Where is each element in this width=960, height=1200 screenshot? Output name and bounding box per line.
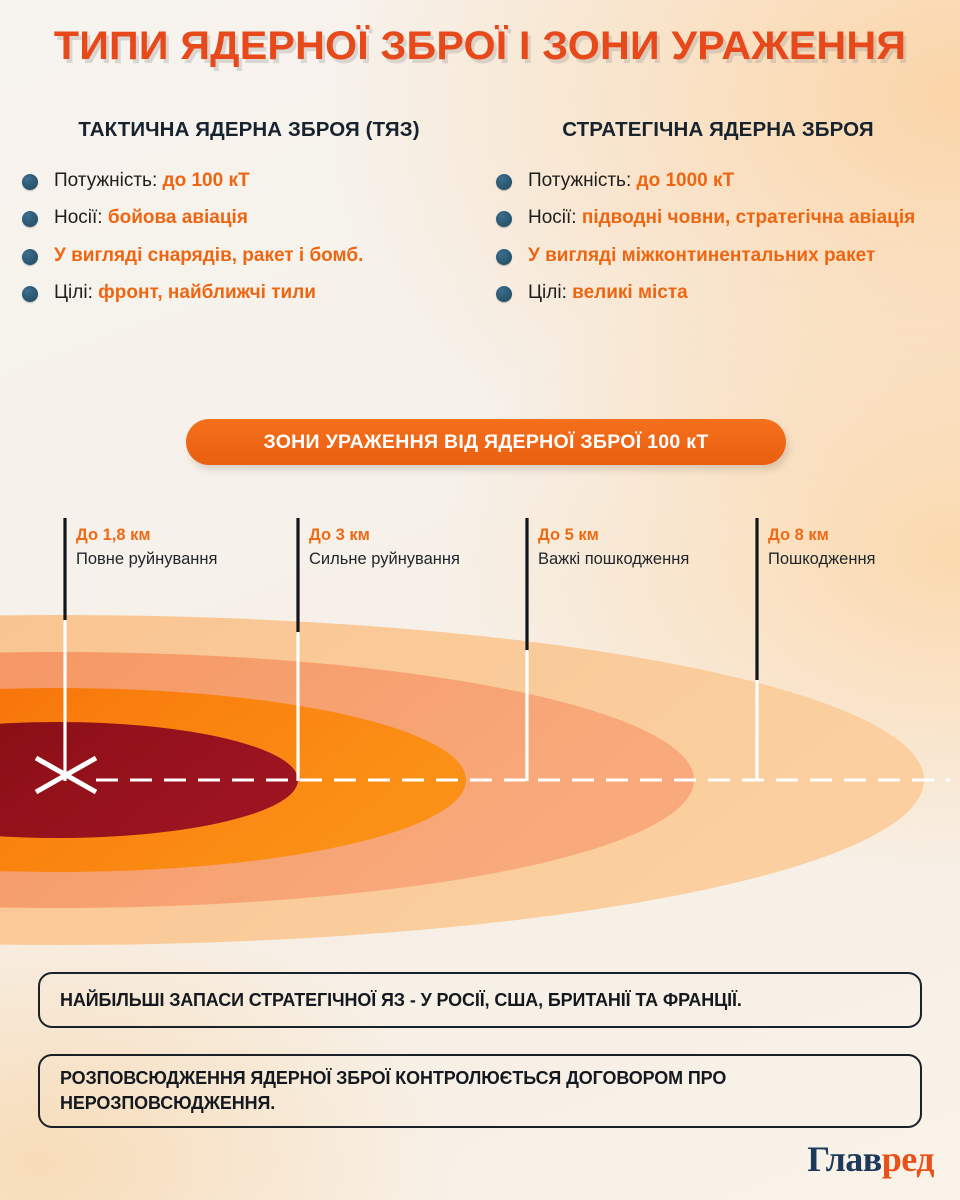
bullet-dot-icon bbox=[496, 211, 512, 227]
zone-effect-3: Важкі пошкодження bbox=[538, 550, 689, 568]
bullet-label: Носії: bbox=[528, 207, 582, 228]
zone-distance-1: До 1,8 км bbox=[76, 526, 151, 544]
bullet-value: У вигляді міжконтинентальних ракет bbox=[528, 243, 875, 268]
zone-effect-2: Сильне руйнування bbox=[309, 550, 460, 568]
zone-effect-4: Пошкодження bbox=[768, 550, 876, 568]
bullet-value: бойова авіація bbox=[108, 207, 248, 228]
zone-effect-1: Повне руйнування bbox=[76, 550, 217, 568]
glavred-logo[interactable]: Главред bbox=[807, 1138, 934, 1180]
bullet-dot-icon bbox=[22, 211, 38, 227]
list-item: У вигляді снарядів, ракет і бомб. bbox=[14, 243, 484, 268]
bullet-text: Цілі: великі міста bbox=[528, 280, 688, 305]
logo-part-primary: Глав bbox=[807, 1139, 881, 1179]
bullet-label: Носії: bbox=[54, 207, 108, 228]
bullet-text: Потужність: до 100 кТ bbox=[54, 168, 250, 193]
blast-zone-diagram: До 1,8 км Повне руйнування До 3 км Сильн… bbox=[0, 500, 960, 970]
list-item: Цілі: фронт, найближчі тили bbox=[14, 280, 484, 305]
infographic-poster: ТИПИ ЯДЕРНОЇ ЗБРОЇ І ЗОНИ УРАЖЕННЯ ТАКТИ… bbox=[0, 0, 960, 1200]
blast-zones-banner: ЗОНИ УРАЖЕННЯ ВІД ЯДЕРНОЇ ЗБРОЇ 100 кТ bbox=[186, 419, 786, 465]
column-heading-strategic: СТРАТЕГІЧНА ЯДЕРНА ЗБРОЯ bbox=[488, 118, 948, 142]
bullet-value: до 100 кТ bbox=[163, 170, 250, 191]
bullet-text: Потужність: до 1000 кТ bbox=[528, 168, 734, 193]
list-item: Носії: бойова авіація bbox=[14, 205, 484, 230]
note-box-treaty: РОЗПОВСЮДЖЕННЯ ЯДЕРНОЇ ЗБРОЇ КОНТРОЛЮЄТЬ… bbox=[38, 1054, 922, 1128]
bullet-dot-icon bbox=[496, 249, 512, 265]
bullet-list-strategic: Потужність: до 1000 кТ Носії: підводні ч… bbox=[488, 168, 948, 306]
note-box-stockpiles: НАЙБІЛЬШІ ЗАПАСИ СТРАТЕГІЧНОЇ ЯЗ - У РОС… bbox=[38, 972, 922, 1028]
bullet-label: Цілі: bbox=[54, 282, 98, 303]
bullet-dot-icon bbox=[496, 286, 512, 302]
zone-distance-4: До 8 км bbox=[768, 526, 829, 544]
logo-part-accent: ред bbox=[882, 1139, 934, 1179]
column-heading-tactical: ТАКТИЧНА ЯДЕРНА ЗБРОЯ (ТЯЗ) bbox=[14, 118, 484, 142]
bullet-value: фронт, найближчі тили bbox=[98, 282, 316, 303]
bullet-label: Потужність: bbox=[54, 170, 163, 191]
column-strategic: СТРАТЕГІЧНА ЯДЕРНА ЗБРОЯ Потужність: до … bbox=[488, 118, 948, 318]
bullet-value: підводні човни, стратегічна авіація bbox=[582, 207, 915, 228]
list-item: Цілі: великі міста bbox=[488, 280, 948, 305]
bullet-dot-icon bbox=[22, 174, 38, 190]
page-title: ТИПИ ЯДЕРНОЇ ЗБРОЇ І ЗОНИ УРАЖЕННЯ bbox=[0, 24, 960, 69]
bullet-text: Носії: бойова авіація bbox=[54, 205, 248, 230]
bullet-list-tactical: Потужність: до 100 кТ Носії: бойова авіа… bbox=[14, 168, 484, 306]
list-item: Носії: підводні човни, стратегічна авіац… bbox=[488, 205, 948, 230]
bullet-value: великі міста bbox=[572, 282, 688, 303]
list-item: Потужність: до 100 кТ bbox=[14, 168, 484, 193]
note-text: НАЙБІЛЬШІ ЗАПАСИ СТРАТЕГІЧНОЇ ЯЗ - У РОС… bbox=[60, 988, 742, 1013]
blast-zones-banner-label: ЗОНИ УРАЖЕННЯ ВІД ЯДЕРНОЇ ЗБРОЇ 100 кТ bbox=[263, 431, 708, 454]
zone-distance-2: До 3 км bbox=[309, 526, 370, 544]
bullet-text: Носії: підводні човни, стратегічна авіац… bbox=[528, 205, 915, 230]
bullet-value: до 1000 кТ bbox=[637, 170, 735, 191]
bullet-value: У вигляді снарядів, ракет і бомб. bbox=[54, 243, 363, 268]
column-tactical: ТАКТИЧНА ЯДЕРНА ЗБРОЯ (ТЯЗ) Потужність: … bbox=[14, 118, 484, 318]
list-item: У вигляді міжконтинентальних ракет bbox=[488, 243, 948, 268]
bullet-label: Цілі: bbox=[528, 282, 572, 303]
note-text: РОЗПОВСЮДЖЕННЯ ЯДЕРНОЇ ЗБРОЇ КОНТРОЛЮЄТЬ… bbox=[60, 1066, 875, 1116]
bullet-label: Потужність: bbox=[528, 170, 637, 191]
list-item: Потужність: до 1000 кТ bbox=[488, 168, 948, 193]
zone-distance-3: До 5 км bbox=[538, 526, 599, 544]
bullet-dot-icon bbox=[22, 286, 38, 302]
bullet-dot-icon bbox=[496, 174, 512, 190]
bullet-dot-icon bbox=[22, 249, 38, 265]
bullet-text: Цілі: фронт, найближчі тили bbox=[54, 280, 316, 305]
